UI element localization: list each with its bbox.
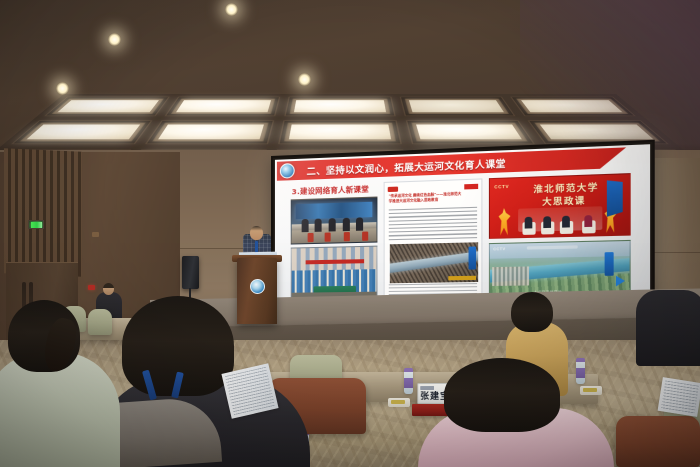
presenter-head <box>250 226 263 240</box>
cctv-panelist <box>525 217 533 229</box>
recessed-downlight-icon <box>56 82 69 95</box>
institution-logo-icon <box>420 386 434 390</box>
attendee-right-dark <box>636 290 700 366</box>
conference-hall-scene: 二、坚持以文润心，拓展大运河文化育人课堂 3.建设网络育人新课堂 <box>0 0 700 467</box>
ceiling-light-panel <box>406 120 536 144</box>
aerial-vertical-tag <box>605 252 614 276</box>
ceiling-light-panel <box>44 97 169 116</box>
cctv-panelist <box>543 216 551 228</box>
classroom-chair <box>325 232 331 241</box>
ceiling-light-panel <box>11 120 152 144</box>
bottle-label <box>404 378 413 388</box>
cctv-headline-line1: 淮北师范大学 <box>533 181 598 196</box>
attendee-pink-head <box>444 358 560 432</box>
ceiling-light-panel <box>400 97 516 116</box>
news-tag <box>464 184 478 190</box>
classroom-student <box>356 217 363 230</box>
wall-marker-icon <box>92 232 99 237</box>
fire-alarm-indicator-icon <box>88 285 95 290</box>
ceiling-light-panel <box>284 97 395 116</box>
slide-title: 二、坚持以文润心，拓展大运河文化育人课堂 <box>307 155 506 177</box>
classroom-student <box>315 219 322 232</box>
attendee-khaki-head <box>511 292 553 332</box>
canal-photo-credit <box>448 276 476 281</box>
canal-aerial-video[interactable]: CCTV 大运河沿线风貌 <box>489 240 631 298</box>
loudspeaker <box>182 256 199 289</box>
group-photo <box>291 246 378 298</box>
water-bottle[interactable] <box>576 358 585 384</box>
seated-attendee-head <box>103 283 114 295</box>
snack-plate <box>388 398 410 407</box>
news-body-text <box>389 207 477 240</box>
back-chair <box>88 309 112 335</box>
cctv-panelist <box>562 216 570 228</box>
news-headline: "传承运河文化 赓续红色血脉"——淮北师范大学推进大运河文化融入思政教育 <box>389 192 465 205</box>
wood-slat-panel <box>4 148 82 276</box>
presentation-slide: 二、坚持以文润心，拓展大运河文化育人课堂 3.建设网络育人新课堂 <box>275 144 650 298</box>
cctv-broadcast-banner: CCTV 淮北师范大学 大思政课 <box>489 173 631 239</box>
ceiling-light-panel <box>278 120 402 144</box>
recessed-downlight-icon <box>298 73 311 86</box>
cctv-watermark-icon: CCTV <box>493 247 505 251</box>
exit-sign-glyph-icon <box>31 222 42 228</box>
ceiling-light-panel <box>145 120 275 144</box>
ceiling-light-panel <box>164 97 280 116</box>
recessed-downlight-icon <box>108 33 121 46</box>
classroom-chair <box>362 232 368 241</box>
cctv-stage-flag <box>607 180 623 217</box>
canal-vertical-tag <box>469 247 476 270</box>
canal-aerial-photo <box>390 242 478 283</box>
cctv-dancer-figure-icon <box>499 208 511 236</box>
news-article-panel: "传承运河文化 赓续红色血脉"——淮北师范大学推进大运河文化融入思政教育 <box>384 178 483 298</box>
cctv-headline-line2: 大思政课 <box>542 194 585 208</box>
handout-paper[interactable] <box>658 377 700 417</box>
aerial-town <box>492 266 529 286</box>
classroom-student <box>343 218 350 231</box>
recessed-downlight-icon <box>225 3 238 16</box>
news-source-badge-icon <box>388 186 398 191</box>
cctv-panelist <box>584 215 592 227</box>
smart-classroom-photo <box>291 196 378 244</box>
snack-plate <box>580 386 602 395</box>
bottle-label <box>576 368 585 378</box>
classroom-chair <box>308 233 314 242</box>
led-presentation-screen: 二、坚持以文润心，拓展大运河文化育人课堂 3.建设网络育人新课堂 <box>271 140 655 302</box>
classroom-chair <box>344 232 350 241</box>
exit-sign <box>28 220 44 229</box>
handout-text-lines <box>225 367 275 415</box>
audience-chair[interactable] <box>616 416 700 467</box>
handout-text-lines <box>661 381 699 414</box>
ceiling-light-panel <box>510 97 635 116</box>
water-bottle[interactable] <box>404 368 413 394</box>
classroom-student <box>329 218 336 231</box>
university-emblem-icon <box>250 279 265 294</box>
slide-subtitle: 3.建设网络育人新课堂 <box>292 184 369 198</box>
play-triangle-icon[interactable] <box>616 276 625 287</box>
classroom-student <box>302 219 309 232</box>
cctv-logo-icon: CCTV <box>494 184 509 190</box>
